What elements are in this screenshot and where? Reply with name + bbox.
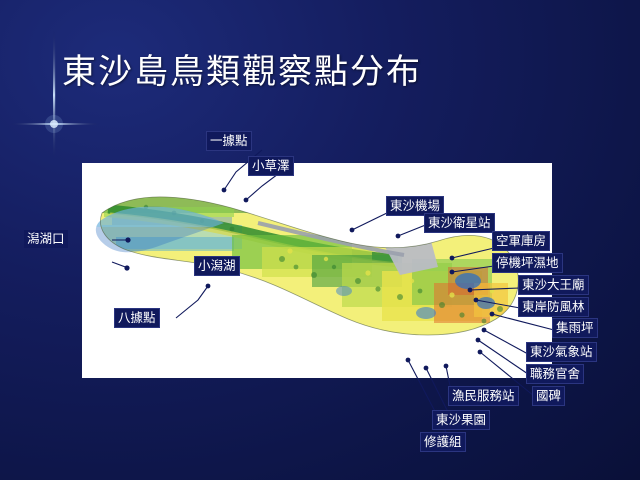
slide: 東沙島鳥類觀察點分布 bbox=[0, 0, 640, 480]
map-label-air-force-warehouse[interactable]: 空軍庫房 bbox=[492, 231, 550, 251]
map-label-yi-ju-dian[interactable]: 一據點 bbox=[206, 131, 252, 151]
map-label-dongsha-orchard[interactable]: 東沙果園 bbox=[432, 410, 490, 430]
map-label-apron-wetland[interactable]: 停機坪濕地 bbox=[492, 253, 563, 273]
map-label-dongsha-dawang-temple[interactable]: 東沙大王廟 bbox=[518, 275, 589, 295]
map-label-national-monument[interactable]: 國碑 bbox=[532, 386, 565, 406]
map-label-fishermen-service-station[interactable]: 漁民服務站 bbox=[448, 386, 519, 406]
map-label-xiao-cao-ze[interactable]: 小草澤 bbox=[248, 156, 294, 176]
map-container bbox=[82, 163, 552, 378]
map-label-lagoon-mouth[interactable]: 潟湖口 bbox=[24, 230, 68, 248]
map-label-dongsha-weather-station[interactable]: 東沙氣象站 bbox=[526, 342, 597, 362]
page-title: 東沙島鳥類觀察點分布 bbox=[62, 44, 422, 93]
map-label-dongsha-satellite-station[interactable]: 東沙衛星站 bbox=[424, 213, 495, 233]
dongsha-island-landcover-map bbox=[82, 163, 552, 378]
map-label-small-lagoon[interactable]: 小潟湖 bbox=[194, 256, 240, 276]
map-label-ba-ju-dian[interactable]: 八據點 bbox=[114, 308, 160, 328]
map-label-officers-quarters[interactable]: 職務官舍 bbox=[526, 364, 584, 384]
map-label-rain-catchment[interactable]: 集雨坪 bbox=[552, 318, 598, 338]
map-label-east-coast-windbreak-forest[interactable]: 東岸防風林 bbox=[518, 297, 589, 317]
map-label-maintenance-team[interactable]: 修護組 bbox=[420, 432, 466, 452]
